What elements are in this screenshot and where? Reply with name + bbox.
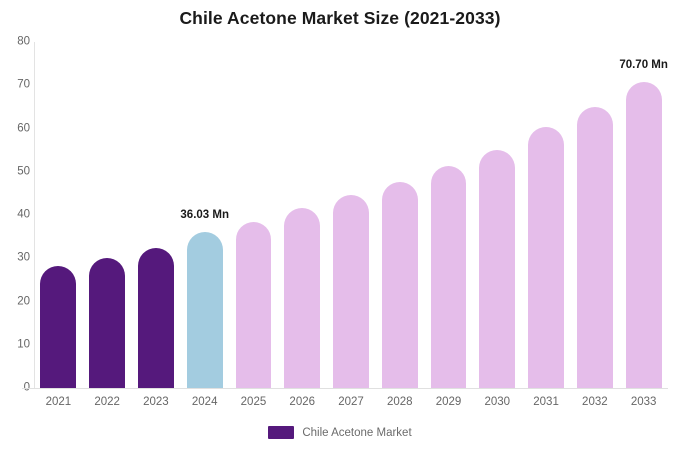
bar-2025[interactable] <box>236 222 272 388</box>
x-axis-tick-2022: 2022 <box>94 396 120 408</box>
bar-2024[interactable] <box>187 232 223 388</box>
x-axis-tick-2027: 2027 <box>338 396 364 408</box>
bar-2030[interactable] <box>479 150 515 388</box>
x-axis-tick-2029: 2029 <box>436 396 462 408</box>
chart-container: Chile Acetone Market Size (2021-2033) 01… <box>0 0 680 450</box>
bars-layer: 202120222023202436.03 Mn2025202620272028… <box>0 0 680 450</box>
bar-2026[interactable] <box>284 208 320 388</box>
bar-value-label-2033: 70.70 Mn <box>619 59 668 71</box>
x-axis-tick-2032: 2032 <box>582 396 608 408</box>
bar-2023[interactable] <box>138 248 174 388</box>
bar-2032[interactable] <box>577 107 613 388</box>
legend-label-chile-acetone-market: Chile Acetone Market <box>302 427 411 439</box>
bar-2022[interactable] <box>89 258 125 388</box>
x-axis-tick-2028: 2028 <box>387 396 413 408</box>
bar-2027[interactable] <box>333 195 369 388</box>
x-axis-tick-2030: 2030 <box>485 396 511 408</box>
legend-swatch-chile-acetone-market <box>268 426 294 439</box>
x-axis-tick-2033: 2033 <box>631 396 657 408</box>
x-axis-tick-2024: 2024 <box>192 396 218 408</box>
bar-2021[interactable] <box>40 266 76 388</box>
x-axis-tick-2023: 2023 <box>143 396 169 408</box>
x-axis-tick-2021: 2021 <box>46 396 72 408</box>
bar-value-label-2024: 36.03 Mn <box>180 209 229 221</box>
bar-2031[interactable] <box>528 127 564 388</box>
bar-2033[interactable] <box>626 82 662 388</box>
x-axis-tick-2025: 2025 <box>241 396 267 408</box>
x-axis-tick-2031: 2031 <box>533 396 559 408</box>
x-axis-tick-2026: 2026 <box>289 396 315 408</box>
bar-2028[interactable] <box>382 182 418 388</box>
bar-2029[interactable] <box>431 166 467 388</box>
chart-legend: Chile Acetone Market <box>0 426 680 439</box>
